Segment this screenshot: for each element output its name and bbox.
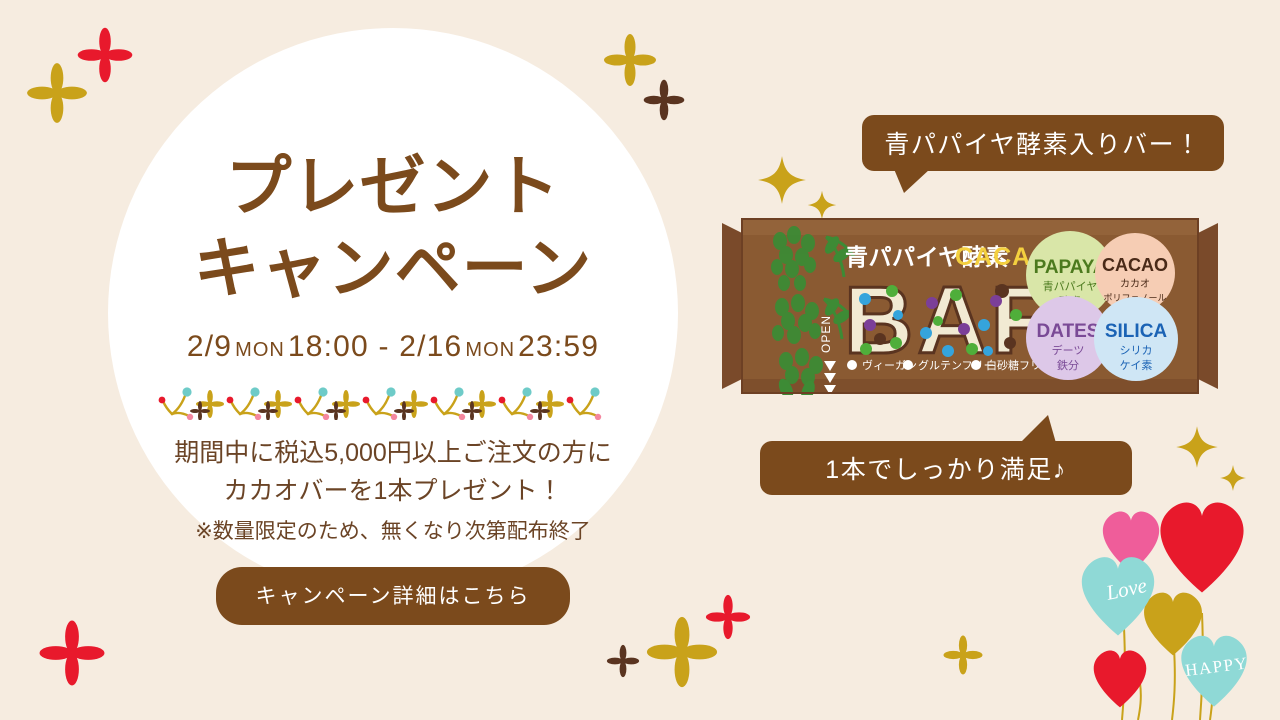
- speech-bubble-bottom: 1本でしっかり満足♪: [760, 441, 1132, 495]
- badge-silica: SILICA シリカ ケイ素: [1094, 297, 1178, 381]
- badge-dates-jp: デーツ: [1052, 343, 1085, 357]
- date-end-dow: MON: [465, 339, 515, 361]
- badge-papaya-jp: 青パパイヤ: [1043, 280, 1098, 293]
- open-label: OPEN: [819, 315, 833, 353]
- date-start-dow: MON: [235, 339, 285, 361]
- campaign-details-button[interactable]: キャンペーン詳細はこちら: [216, 567, 571, 625]
- period-separator: -: [378, 330, 389, 363]
- speech-bubble-bottom-label: 1本でしっかり満足♪: [825, 450, 1066, 486]
- heart-love: Love: [1082, 557, 1154, 635]
- badge-dates-jp2: 鉄分: [1057, 358, 1079, 372]
- date-start: 2/9: [187, 330, 232, 363]
- speech-bubble-top: 青パパイヤ酵素入りバー！: [862, 115, 1224, 171]
- time-start: 18:00: [288, 330, 369, 363]
- date-end: 2/16: [399, 330, 462, 363]
- time-end: 23:59: [518, 330, 599, 363]
- badge-cacao-en: CACAO: [1102, 255, 1168, 275]
- speech-bubble-top-tail: [894, 169, 930, 193]
- badge-silica-jp: シリカ: [1120, 344, 1153, 357]
- heart-red-large: [1160, 502, 1243, 592]
- bullet-1: グルテンフリー: [918, 358, 995, 372]
- heart-red-small: [1094, 650, 1147, 707]
- promo-content: プレゼント キャンペーン 2/9MON18:00 - 2/16MON23:59: [108, 28, 678, 628]
- campaign-banner: プレゼント キャンペーン 2/9MON18:00 - 2/16MON23:59: [0, 0, 1280, 720]
- badge-dates-en: DATES: [1037, 321, 1100, 342]
- heart-happy: HAPPY: [1181, 636, 1249, 707]
- campaign-description: 期間中に税込5,000円以上ご注文の方に カカオバーを1本プレゼント！: [174, 434, 612, 510]
- campaign-note: ※数量限定のため、無くなり次第配布終了: [195, 516, 591, 548]
- decorative-divider: [158, 386, 628, 420]
- campaign-period: 2/9MON18:00 - 2/16MON23:59: [187, 330, 599, 364]
- speech-bubble-top-label: 青パパイヤ酵素入りバー！: [884, 125, 1201, 161]
- speech-bubble-bottom-tail: [1020, 415, 1056, 443]
- product-bullets: ヴィーガン グルテンフリー 白砂糖フリー: [847, 358, 1052, 372]
- badge-silica-en: SILICA: [1105, 321, 1168, 342]
- page-title: プレゼント キャンペーン: [194, 146, 593, 310]
- product-package: OPEN 青パパイヤ酵素 CACAO BAR: [720, 203, 1220, 408]
- badge-cacao-jp: カカオ: [1120, 278, 1150, 290]
- heart-balloons: Love HAPPY: [1062, 498, 1280, 720]
- badge-silica-jp2: ケイ素: [1120, 359, 1153, 372]
